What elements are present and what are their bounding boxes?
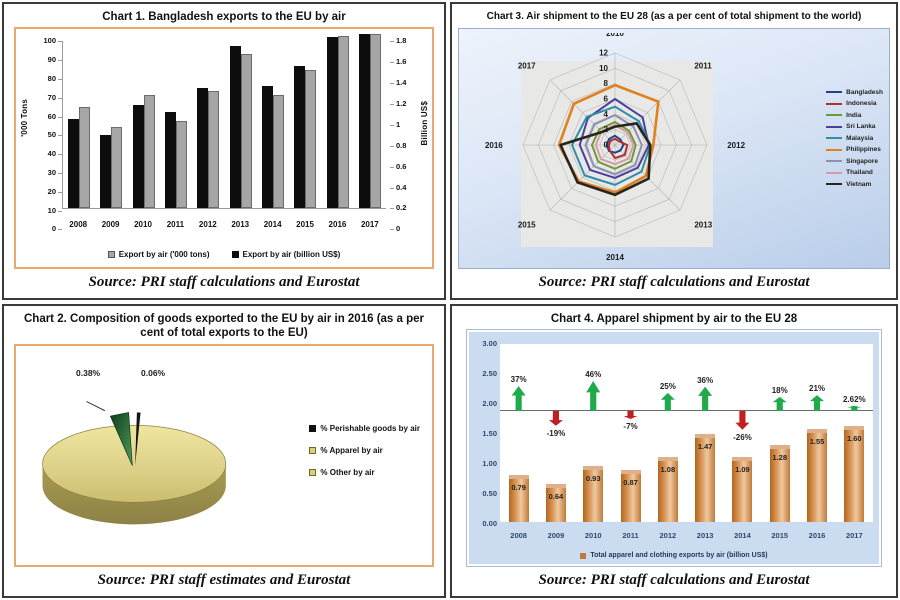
legend-line-icon [826, 160, 842, 162]
chart-1-y-tick-right: 0.6 [396, 162, 422, 171]
chart-1-y-tick-left: 0 [30, 224, 56, 233]
chart-4-bar: 0.93 [583, 466, 603, 522]
chart-1-bar-group [63, 41, 95, 208]
growth-up-arrow-icon [773, 397, 787, 411]
chart-3-legend-item: Singapore [826, 158, 883, 165]
svg-text:12: 12 [599, 48, 608, 57]
chart-3-plot-area: 0246810122010201120122013201420152016201… [458, 28, 890, 270]
chart-3-legend-label: India [846, 112, 861, 119]
chart-grid: Chart 1. Bangladesh exports to the EU by… [0, 0, 900, 600]
chart-2-title: Chart 2. Composition of goods exported t… [4, 306, 444, 344]
chart-4-plot-area: 0.000.501.001.502.002.503.00 0.7937%0.64… [466, 329, 882, 567]
chart-1-x-tick: 2012 [192, 220, 224, 229]
chart-4-y-tick: 2.50 [469, 369, 497, 378]
chart-1-y-tick-right: 0 [396, 224, 422, 233]
svg-text:0: 0 [604, 140, 609, 149]
chart-1-bar-group [321, 41, 353, 208]
chart-3-legend-item: Vietnam [826, 181, 883, 188]
chart-3-legend-label: Sri Lanka [846, 123, 875, 130]
chart-4-x-axis-labels: 2008200920102011201220132014201520162017 [500, 531, 873, 540]
chart-2-legend: % Perishable goods by air % Apparel by a… [309, 424, 420, 477]
chart-1-y-tick-left: 30 [30, 168, 56, 177]
chart-4-bar-value: 1.28 [770, 453, 790, 462]
chart-1-y-axis-left-label: '000 Tons [20, 99, 29, 137]
chart-3-legend-item: Philippines [826, 146, 883, 153]
chart-4-x-tick: 2010 [575, 531, 612, 540]
chart-1-x-tick: 2009 [94, 220, 126, 229]
chart-1-bar-group [224, 41, 256, 208]
legend-swatch-black-icon [232, 251, 239, 258]
chart-4-growth-label: 46% [573, 370, 613, 379]
panel-chart-3: Chart 3. Air shipment to the EU 28 (as a… [450, 2, 898, 300]
svg-text:4: 4 [604, 109, 609, 118]
chart-2-legend-label-other: % Other by air [320, 468, 374, 477]
chart-1-y-tick-right: 0.2 [396, 203, 422, 212]
growth-down-arrow-icon [624, 411, 638, 419]
tick-mark-icon [390, 62, 394, 63]
chart-1-y-tick-left: 50 [30, 130, 56, 139]
chart-4-growth-label: -7% [611, 422, 651, 431]
chart-4-x-tick: 2009 [537, 531, 574, 540]
chart-2-source: Source: PRI staff estimates and Eurostat [4, 567, 444, 596]
svg-text:2: 2 [604, 125, 609, 134]
chart-1-bar-tons [370, 34, 381, 208]
chart-1-bar-usd [197, 88, 208, 208]
chart-1-bar-group [128, 41, 160, 208]
chart-3-legend-label: Singapore [846, 158, 878, 165]
tick-mark-icon [390, 146, 394, 147]
tick-mark-icon [58, 192, 62, 193]
chart-1-y-tick-right: 1.6 [396, 57, 422, 66]
chart-4-frame: 0.000.501.001.502.002.503.00 0.7937%0.64… [466, 329, 882, 567]
tick-mark-icon [390, 125, 394, 126]
panel-chart-2: Chart 2. Composition of goods exported t… [2, 304, 446, 598]
tick-mark-icon [58, 173, 62, 174]
chart-1-source: Source: PRI staff calculations and Euros… [4, 269, 444, 298]
chart-1-legend: Export by air ('000 tons) Export by air … [16, 250, 432, 259]
legend-line-icon [826, 126, 842, 128]
chart-1-bar-group [95, 41, 127, 208]
chart-2-legend-item-other: % Other by air [309, 468, 420, 477]
growth-down-arrow-icon [549, 411, 563, 426]
chart-1-y-tick-left: 20 [30, 187, 56, 196]
chart-3-legend-label: Indonesia [846, 100, 876, 107]
svg-text:6: 6 [604, 94, 609, 103]
chart-4-bar: 1.60 [844, 426, 864, 522]
chart-3-legend-item: Bangladesh [826, 89, 883, 96]
panel-chart-1: Chart 1. Bangladesh exports to the EU by… [2, 2, 446, 300]
legend-line-icon [826, 172, 842, 174]
chart-4-bar-column: 1.0825% [649, 344, 686, 522]
tick-mark-icon [58, 154, 62, 155]
legend-swatch-grey-icon [108, 251, 115, 258]
chart-1-y-tick-left: 90 [30, 55, 56, 64]
chart-4-source: Source: PRI staff calculations and Euros… [452, 567, 896, 596]
tick-mark-icon [58, 79, 62, 80]
panel-chart-4: Chart 4. Apparel shipment by air to the … [450, 304, 898, 598]
chart-4-x-tick: 2011 [612, 531, 649, 540]
chart-1-x-tick: 2013 [224, 220, 256, 229]
tick-mark-icon [390, 104, 394, 105]
chart-4-bar-column: 0.87-7% [612, 344, 649, 522]
chart-1-bar-usd [294, 66, 305, 208]
chart-3-source: Source: PRI staff calculations and Euros… [452, 269, 896, 298]
chart-1-y-tick-right: 0.4 [396, 183, 422, 192]
chart-4-bar: 1.08 [658, 457, 678, 522]
legend-swatch-orange-icon [580, 553, 586, 559]
svg-text:2016: 2016 [485, 141, 503, 150]
chart-1-bar-tons [176, 121, 187, 208]
chart-1-bar-usd [133, 105, 144, 208]
chart-1-bar-tons [208, 91, 219, 208]
tick-mark-icon [390, 83, 394, 84]
chart-3-legend: BangladeshIndonesiaIndiaSri LankaMalaysi… [826, 89, 883, 188]
chart-4-bar: 0.87 [621, 470, 641, 522]
chart-1-y-tick-right: 1 [396, 120, 422, 129]
chart-3-title: Chart 3. Air shipment to the EU 28 (as a… [452, 4, 896, 28]
chart-1-bar-tons [111, 127, 122, 208]
tick-mark-icon [390, 229, 394, 230]
chart-1-y-tick-left: 70 [30, 93, 56, 102]
tick-mark-icon [390, 167, 394, 168]
chart-4-bar-column: 0.7937% [500, 344, 537, 522]
chart-4-bar: 1.55 [807, 429, 827, 522]
chart-1-y-tick-left: 40 [30, 149, 56, 158]
chart-3-legend-label: Vietnam [846, 181, 871, 188]
chart-4-bar-value: 1.08 [658, 465, 678, 474]
chart-3-legend-label: Malaysia [846, 135, 873, 142]
chart-1-x-tick: 2008 [62, 220, 94, 229]
chart-4-y-tick: 1.00 [469, 459, 497, 468]
chart-3-frame: 0246810122010201120122013201420152016201… [458, 28, 890, 270]
chart-4-title: Chart 4. Apparel shipment by air to the … [452, 306, 896, 329]
chart-1-y-tick-left: 60 [30, 112, 56, 121]
chart-3-radar: 0246810122010201120122013201420152016201… [463, 33, 763, 271]
chart-3-legend-label: Bangladesh [846, 89, 883, 96]
growth-up-arrow-icon [661, 393, 675, 411]
chart-2-frame: 0.38% 0.06% 8.57% % Perishable goods by … [14, 344, 434, 567]
chart-1-bar-usd [165, 112, 176, 208]
chart-1-bar-usd [68, 119, 79, 208]
chart-4-bar: 0.79 [509, 475, 529, 522]
chart-4-bar-column: 1.602.62% [836, 344, 873, 522]
chart-1-legend-label-tons: Export by air ('000 tons) [119, 250, 210, 259]
chart-1-x-tick: 2016 [321, 220, 353, 229]
chart-4-bar-value: 0.64 [546, 492, 566, 501]
chart-1-bar-tons [338, 36, 349, 208]
svg-text:2017: 2017 [518, 61, 536, 70]
chart-4-x-tick: 2015 [761, 531, 798, 540]
legend-line-icon [826, 183, 842, 185]
chart-1-x-tick: 2011 [159, 220, 191, 229]
chart-4-bar: 1.47 [695, 434, 715, 522]
chart-4-x-tick: 2012 [649, 531, 686, 540]
svg-text:2010: 2010 [606, 33, 624, 38]
chart-2-legend-label-apparel: % Apparel by air [320, 446, 382, 455]
chart-4-legend: Total apparel and clothing exports by ai… [467, 552, 881, 559]
tick-mark-icon [58, 98, 62, 99]
chart-3-legend-item: Malaysia [826, 135, 883, 142]
chart-4-bar-value: 1.47 [695, 442, 715, 451]
svg-text:2011: 2011 [694, 61, 712, 70]
chart-2-legend-item-perishable: % Perishable goods by air [309, 424, 420, 433]
tick-mark-icon [58, 211, 62, 212]
tick-mark-icon [58, 135, 62, 136]
chart-1-x-tick: 2015 [289, 220, 321, 229]
legend-line-icon [826, 137, 842, 139]
chart-3-legend-label: Philippines [846, 146, 881, 153]
tick-mark-icon [58, 60, 62, 61]
chart-4-x-tick: 2013 [686, 531, 723, 540]
chart-2-plot-area: 0.38% 0.06% 8.57% % Perishable goods by … [16, 346, 432, 565]
chart-1-y-tick-right: 0.8 [396, 141, 422, 150]
chart-4-growth-label: 36% [685, 376, 725, 385]
chart-1-bar-usd [230, 46, 241, 208]
chart-4-x-tick: 2017 [836, 531, 873, 540]
chart-4-growth-label: 21% [797, 384, 837, 393]
legend-swatch-green-icon [309, 469, 316, 476]
chart-4-bar: 1.09 [732, 457, 752, 522]
chart-3-legend-item: Thailand [826, 169, 883, 176]
legend-line-icon [826, 103, 842, 105]
chart-1-y-tick-left: 100 [30, 36, 56, 45]
chart-4-bar: 1.28 [770, 445, 790, 522]
chart-4-growth-label: 18% [760, 386, 800, 395]
chart-4-bar-value: 1.09 [732, 465, 752, 474]
tick-mark-icon [390, 188, 394, 189]
chart-4-bar-value: 1.60 [844, 434, 864, 443]
chart-4-bar-value: 0.87 [621, 478, 641, 487]
chart-1-frame: '000 Tons Billion US$ 200820092010201120… [14, 27, 434, 269]
chart-4-y-tick: 2.00 [469, 399, 497, 408]
chart-4-bar-value: 1.55 [807, 437, 827, 446]
chart-1-legend-label-usd: Export by air (billion US$) [243, 250, 341, 259]
chart-1-bar-tons [305, 70, 316, 208]
chart-4-x-tick: 2014 [724, 531, 761, 540]
chart-4-growth-label: 25% [648, 382, 688, 391]
legend-swatch-khaki-icon [309, 447, 316, 454]
chart-1-legend-item-usd: Export by air (billion US$) [232, 250, 341, 259]
tick-mark-icon [58, 41, 62, 42]
chart-1-x-tick: 2017 [354, 220, 386, 229]
chart-1-y-tick-right: 1.4 [396, 78, 422, 87]
growth-up-arrow-icon [847, 406, 861, 411]
chart-1-bar-usd [359, 34, 370, 208]
legend-line-icon [826, 91, 842, 93]
chart-1-x-tick: 2014 [256, 220, 288, 229]
growth-up-arrow-icon [698, 387, 712, 411]
chart-1-bar-tons [79, 107, 90, 208]
chart-1-bar-tons [241, 54, 252, 208]
chart-4-y-tick: 3.00 [469, 339, 497, 348]
growth-up-arrow-icon [810, 395, 824, 411]
growth-down-arrow-icon [735, 411, 749, 430]
svg-text:10: 10 [599, 63, 608, 72]
chart-1-bar-group [289, 41, 321, 208]
legend-line-icon [826, 149, 842, 151]
chart-1-bar-usd [100, 135, 111, 208]
chart-4-growth-label: -26% [722, 433, 762, 442]
chart-1-x-tick: 2010 [127, 220, 159, 229]
tick-mark-icon [58, 117, 62, 118]
chart-4-bar-value: 0.79 [509, 483, 529, 492]
legend-line-icon [826, 114, 842, 116]
chart-4-bar-column: 1.09-26% [724, 344, 761, 522]
chart-3-legend-label: Thailand [846, 169, 873, 176]
chart-1-y-tick-left: 80 [30, 74, 56, 83]
chart-1-plot-area: '000 Tons Billion US$ 200820092010201120… [16, 29, 432, 267]
chart-3-legend-item: Sri Lanka [826, 123, 883, 130]
chart-4-legend-label: Total apparel and clothing exports by ai… [590, 552, 767, 559]
chart-1-bar-tons [144, 95, 155, 208]
chart-4-x-tick: 2008 [500, 531, 537, 540]
chart-1-legend-item-tons: Export by air ('000 tons) [108, 250, 210, 259]
chart-4-bar-column: 1.5521% [798, 344, 835, 522]
tick-mark-icon [390, 208, 394, 209]
svg-text:2013: 2013 [694, 220, 712, 229]
chart-1-bar-group [160, 41, 192, 208]
chart-1-bar-usd [327, 37, 338, 208]
svg-text:8: 8 [604, 79, 609, 88]
chart-1-bar-group [192, 41, 224, 208]
chart-4-bar-value: 0.93 [583, 474, 603, 483]
chart-1-bar-group [354, 41, 386, 208]
chart-4-growth-label: -19% [536, 429, 576, 438]
chart-4-bar-column: 1.4736% [686, 344, 723, 522]
chart-1-x-axis-labels: 2008200920102011201220132014201520162017 [62, 220, 386, 229]
chart-4-bar-column: 1.2818% [761, 344, 798, 522]
chart-4-growth-label: 2.62% [834, 395, 874, 404]
growth-up-arrow-icon [586, 381, 600, 411]
chart-4-y-tick: 0.00 [469, 519, 497, 528]
chart-1-title: Chart 1. Bangladesh exports to the EU by… [4, 4, 444, 27]
chart-1-y-tick-right: 1.8 [396, 36, 422, 45]
chart-1-bars [62, 41, 386, 209]
chart-2-legend-label-perishable: % Perishable goods by air [320, 424, 420, 433]
tick-mark-icon [58, 229, 62, 230]
chart-1-bar-tons [273, 95, 284, 208]
chart-2-legend-item-apparel: % Apparel by air [309, 446, 420, 455]
chart-4-bars: 0.7937%0.64-19%0.9346%0.87-7%1.0825%1.47… [500, 344, 873, 522]
svg-text:2012: 2012 [727, 141, 745, 150]
chart-3-legend-item: Indonesia [826, 100, 883, 107]
chart-4-y-tick: 1.50 [469, 429, 497, 438]
pie-leader-line [87, 401, 105, 410]
chart-1-bar-usd [262, 86, 273, 208]
chart-3-legend-item: India [826, 112, 883, 119]
chart-4-bar-column: 0.64-19% [537, 344, 574, 522]
growth-up-arrow-icon [512, 386, 526, 411]
chart-1-bar-group [257, 41, 289, 208]
tick-mark-icon [390, 41, 394, 42]
chart-4-bar: 0.64 [546, 484, 566, 522]
svg-text:2015: 2015 [518, 220, 536, 229]
chart-1-y-tick-right: 1.2 [396, 99, 422, 108]
chart-4-bar-column: 0.9346% [575, 344, 612, 522]
legend-swatch-black-icon [309, 425, 316, 432]
chart-4-y-tick: 0.50 [469, 489, 497, 498]
chart-4-growth-label: 37% [499, 375, 539, 384]
chart-1-y-tick-left: 10 [30, 206, 56, 215]
pie-slice-apparel [43, 425, 226, 502]
chart-4-x-tick: 2016 [798, 531, 835, 540]
svg-text:2014: 2014 [606, 253, 624, 262]
